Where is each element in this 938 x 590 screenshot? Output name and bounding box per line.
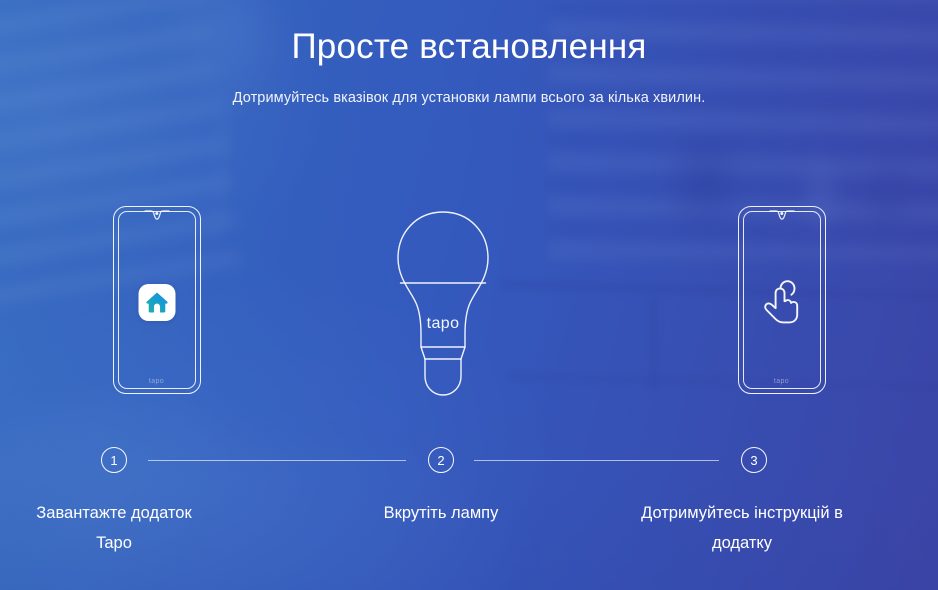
step-caption-3-line-1: Дотримуйтесь інструкцій в — [608, 498, 876, 528]
illustration-row: tapo — [0, 206, 938, 411]
illustration-step-1: tapo — [0, 206, 313, 411]
illustration-step-2: tapo — [286, 206, 599, 411]
step-number-3: 3 — [741, 447, 767, 473]
banner-content: Просте встановлення Дотримуйтесь вказіво… — [0, 0, 938, 590]
step-number-2: 2 — [428, 447, 454, 473]
illustration-step-3: tapo — [625, 206, 938, 411]
page-title: Просте встановлення — [0, 26, 938, 68]
step-caption-2: Вкрутіть лампу — [330, 498, 552, 528]
step-caption-1-line-1: Завантажте додаток — [0, 498, 228, 528]
step-caption-3: Дотримуйтесь інструкцій в додатку — [608, 498, 876, 558]
step-number-1: 1 — [101, 447, 127, 473]
phone-outline-icon: tapo — [113, 206, 201, 394]
smart-bulb-outline-icon: tapo — [390, 206, 496, 402]
house-glyph-icon — [144, 290, 169, 315]
step-caption-2-line-1: Вкрутіть лампу — [330, 498, 552, 528]
step-connector-line-1 — [148, 460, 406, 461]
tapo-home-app-icon — [138, 284, 175, 321]
step-connector-line-2 — [474, 460, 719, 461]
step-caption-3-line-2: додатку — [608, 528, 876, 558]
phone-outline-icon-tap: tapo — [738, 206, 826, 394]
page-subtitle: Дотримуйтесь вказівок для установки ламп… — [0, 90, 938, 106]
step-caption-1: Завантажте додаток Tapo — [0, 498, 228, 558]
step-caption-1-line-2: Tapo — [0, 528, 228, 558]
bulb-glyph-icon: tapo — [390, 206, 496, 402]
installation-steps-banner: Просте встановлення Дотримуйтесь вказіво… — [0, 0, 938, 590]
step-indicator-row: 1 2 3 — [0, 447, 938, 477]
tap-hand-glyph-icon — [760, 278, 804, 326]
tap-hand-icon — [760, 278, 804, 326]
phone-brand-label: tapo — [113, 378, 201, 385]
bulb-brand-label: tapo — [426, 315, 459, 332]
phone-brand-label: tapo — [738, 378, 826, 385]
